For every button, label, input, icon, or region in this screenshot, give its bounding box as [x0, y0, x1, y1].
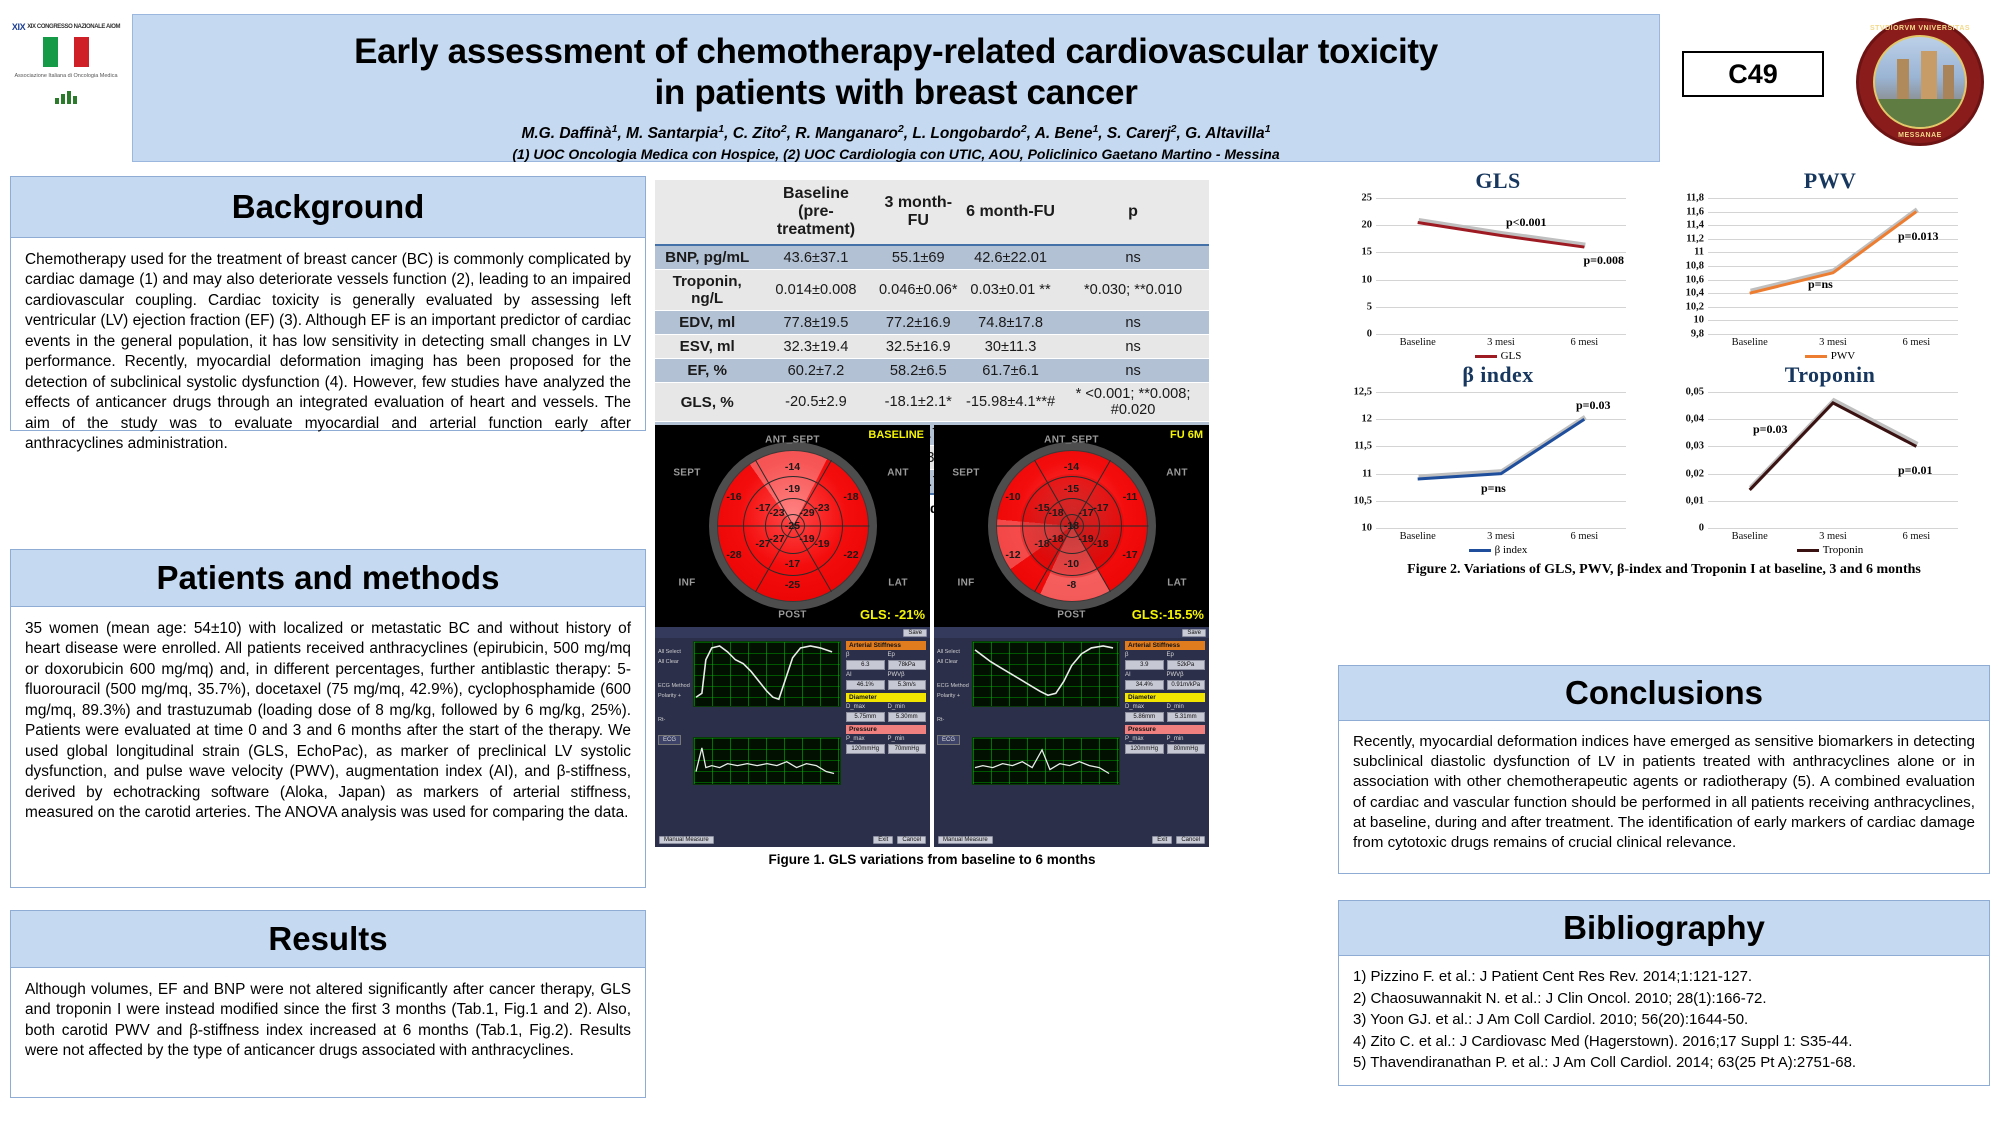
field-label: PWVβ — [888, 672, 927, 678]
table-cell-p: ns — [1057, 359, 1209, 383]
author-list: M.G. Daffinà1, M. Santarpia1, C. Zito2, … — [133, 123, 1659, 143]
section-background-body: Chemotherapy used for the treatment of b… — [10, 238, 646, 431]
segment-value: -17 — [1078, 507, 1093, 519]
field-label: AI — [1125, 672, 1164, 678]
col-baseline: Baseline (pre-treatment) — [759, 180, 872, 245]
section-bibliography-title: Bibliography — [1338, 900, 1990, 956]
wall-label-ant-sept: ANT_SEPT — [1044, 435, 1099, 446]
y-axis-tick-label: 10,4 — [1686, 288, 1708, 299]
segment-value: -19 — [785, 483, 800, 495]
series-lines — [1708, 392, 1958, 528]
segment-value: -25 — [785, 579, 800, 591]
table-row: Troponin, ng/L0.014±0.0080.046±0.06*0.03… — [655, 270, 1209, 311]
series-lines — [1708, 198, 1958, 334]
chart-title: PWV — [1664, 168, 1996, 194]
segment-value: -8 — [1067, 579, 1076, 591]
field-value: 6.3 — [846, 660, 885, 670]
y-axis-tick-label: 20 — [1362, 220, 1377, 231]
bibliography-entry: 4) Zito C. et al.: J Cardiovasc Med (Hag… — [1353, 1031, 1975, 1053]
diameter-wave-icon — [694, 642, 840, 707]
bibliography-entry: 5) Thavendiranathan P. et al.: J Am Coll… — [1353, 1052, 1975, 1074]
y-axis-tick-label: 11 — [1362, 468, 1376, 479]
x-axis-tick-label: 6 mesi — [1902, 531, 1930, 542]
field-label: P_min — [888, 736, 927, 742]
p-value-annotation: p=0.013 — [1898, 229, 1939, 244]
field-value: 5.31mm — [1167, 712, 1206, 722]
field-label: D_min — [1167, 704, 1206, 710]
segment-value: -27 — [755, 538, 770, 550]
table-cell-baseline: -20.5±2.9 — [759, 383, 872, 422]
seal-text: STVDIORVM VNIVERSITAS MESSANAE — [1859, 21, 1981, 143]
ecg-wave-icon — [973, 738, 1119, 785]
y-axis-tick-label: 0,03 — [1686, 441, 1708, 452]
select-all-button[interactable]: All Select — [658, 649, 681, 655]
x-axis-tick-label: 6 mesi — [1570, 531, 1598, 542]
segment-value: -11 — [1123, 491, 1138, 503]
table-cell-fu3: -18.1±2.1* — [873, 383, 964, 422]
stiffness-values: β Ep 3.9 52kPa AI PWVβ 34.4% 0.91m/kPa — [1125, 652, 1205, 690]
x-axis-tick-label: 6 mesi — [1570, 337, 1598, 348]
manual-measure-button[interactable]: Manual Measure — [659, 836, 714, 844]
segment-value: -27 — [769, 533, 784, 545]
y-axis-tick-label: 12,5 — [1354, 387, 1376, 398]
echotracking-topbar: Save — [655, 627, 930, 638]
table-cell-fu6: 42.6±22.01 — [964, 245, 1057, 270]
segment-value: -12 — [1005, 549, 1020, 561]
table-cell-fu6: -15.98±4.1**# — [964, 383, 1057, 422]
segment-value: -29 — [799, 507, 814, 519]
wall-label-post: POST — [1057, 610, 1085, 621]
polarity-label[interactable]: Polarity + — [937, 693, 960, 699]
segment-value-apex: -25 — [785, 520, 800, 532]
table-cell-param: GLS, % — [655, 383, 759, 422]
x-axis-tick-label: Baseline — [1400, 337, 1436, 348]
field-label: β — [846, 652, 885, 658]
segment-value-apex: -18 — [1064, 520, 1079, 532]
echotracking-panel-baseline: Save All Select All Clear ECG Method Pol… — [655, 627, 930, 847]
measurements-side-panel: Arterial Stiffness β Ep 6.3 78kPa AI PWV… — [846, 641, 926, 757]
abstract-code-badge: C49 — [1682, 51, 1824, 97]
title-line-1: Early assessment of chemotherapy-related… — [133, 31, 1659, 72]
wall-label-inf: INF — [678, 578, 695, 589]
section-conclusions: Conclusions Recently, myocardial deforma… — [1338, 665, 1990, 874]
gridline — [1376, 334, 1626, 335]
section-results-body: Although volumes, EF and BNP were not al… — [10, 968, 646, 1098]
italian-flag-icon — [43, 37, 89, 67]
segment-value: -19 — [1078, 533, 1093, 545]
y-axis-tick-label: 0 — [1699, 523, 1708, 534]
table-cell-param: Troponin, ng/L — [655, 270, 759, 311]
y-axis-tick-label: 11,2 — [1686, 233, 1708, 244]
table-cell-baseline: 77.8±19.5 — [759, 311, 872, 335]
bibliography-entry: 2) Chaosuwannakit N. et al.: J Clin Onco… — [1353, 988, 1975, 1010]
chart-legend: Troponin — [1664, 544, 1996, 556]
section-results: Results Although volumes, EF and BNP wer… — [10, 910, 646, 1098]
chart-pwv: PWV9,81010,210,410,610,81111,211,411,611… — [1664, 168, 1996, 362]
pressure-values: P_max P_min 120mmHg 70mmHg — [846, 736, 926, 754]
col-baseline-line2: (pre-treatment) — [761, 203, 870, 239]
gridline — [1708, 334, 1958, 335]
field-label: D_min — [888, 704, 927, 710]
echotracking-footer-left: Manual Measure — [938, 836, 993, 844]
ecg-wave-icon — [694, 738, 840, 785]
ecg-waveform-graph — [972, 737, 1120, 785]
col-parameter — [655, 180, 759, 245]
table-header-row: Baseline (pre-treatment) 3 month-FU 6 mo… — [655, 180, 1209, 245]
data-line-GLS — [1418, 222, 1585, 247]
bullseye-plot-fu6m: FU 6M GLS:-15.5% ANT_SEPT SEPT ANT INF L… — [934, 425, 1209, 627]
table-cell-fu3: 58.2±6.5 — [873, 359, 964, 383]
table-header: Baseline (pre-treatment) 3 month-FU 6 mo… — [655, 180, 1209, 245]
bullseye-tag-baseline: BASELINE — [868, 429, 924, 441]
p-value-annotation: p=0.008 — [1584, 253, 1625, 268]
field-value: 70mmHg — [888, 744, 927, 754]
table-row: BNP, pg/mL43.6±37.155.1±6942.6±22.01ns — [655, 245, 1209, 270]
echotracking-topbar: Save — [934, 627, 1209, 638]
plot-area: 1010,51111,51212,5Baseline3 mesi6 mesip=… — [1376, 392, 1626, 528]
table-row: GLS, %-20.5±2.9-18.1±2.1*-15.98±4.1**#* … — [655, 383, 1209, 422]
segment-value: -16 — [726, 491, 741, 503]
y-axis-tick-label: 9,8 — [1691, 329, 1708, 340]
segment-value: -17 — [785, 558, 800, 570]
wall-label-lat: LAT — [1167, 578, 1187, 589]
table-row: ESV, ml32.3±19.432.5±16.930±11.3ns — [655, 335, 1209, 359]
x-axis-tick-label: Baseline — [1732, 531, 1768, 542]
polarity-label[interactable]: Polarity + — [658, 693, 681, 699]
table-cell-fu3: 32.5±16.9 — [873, 335, 964, 359]
section-methods-body: 35 women (mean age: 54±10) with localize… — [10, 607, 646, 888]
table-cell-param: EDV, ml — [655, 311, 759, 335]
segment-value: -23 — [814, 502, 829, 514]
ecg-select[interactable]: ECG — [937, 735, 960, 745]
pressure-title: Pressure — [846, 725, 926, 734]
arterial-stiffness-title: Arterial Stiffness — [846, 641, 926, 650]
ecg-method-label: ECG Method — [658, 683, 690, 689]
p-value-annotation: p=ns — [1481, 481, 1506, 496]
segment-value: -28 — [726, 549, 741, 561]
table-cell-fu3: 77.2±16.9 — [873, 311, 964, 335]
diameter-waveform-graph — [972, 641, 1120, 707]
field-value: 3.9 — [1125, 660, 1164, 670]
bullseye-tag-fu6m: FU 6M — [1170, 429, 1203, 441]
chart-title: GLS — [1332, 168, 1664, 194]
manual-measure-button[interactable]: Manual Measure — [938, 836, 993, 844]
section-conclusions-body: Recently, myocardial deformation indices… — [1338, 721, 1990, 874]
poster-header: Early assessment of chemotherapy-related… — [132, 14, 1660, 162]
p-value-annotation: p=0.03 — [1576, 398, 1611, 413]
gls-value-fu6m: GLS:-15.5% — [1132, 607, 1204, 622]
y-axis-tick-label: 11,5 — [1354, 441, 1376, 452]
wall-label-inf: INF — [957, 578, 974, 589]
figure-1-caption: Figure 1. GLS variations from baseline t… — [655, 852, 1209, 867]
col-6month-fu: 6 month-FU — [964, 180, 1057, 245]
clear-all-button[interactable]: All Clear — [937, 659, 958, 665]
y-axis-tick-label: 10 — [1362, 523, 1377, 534]
clear-all-button[interactable]: All Clear — [658, 659, 679, 665]
p-value-annotation: p=ns — [1808, 277, 1833, 292]
chart-legend: GLS — [1332, 350, 1664, 362]
affiliations: (1) UOC Oncologia Medica con Hospice, (2… — [133, 146, 1659, 162]
data-line-PWV — [1750, 212, 1917, 294]
echo-panel-baseline: BASELINE GLS: -21% ANT_SEPT SEPT ANT INF… — [655, 425, 930, 847]
p-value-annotation: p=0.03 — [1753, 422, 1788, 437]
ecg-method-label: ECG Method — [937, 683, 969, 689]
field-value: 5.30mm — [888, 712, 927, 722]
segment-value: -15 — [1064, 483, 1079, 495]
exit-button[interactable]: Exit — [873, 836, 893, 844]
y-axis-tick-label: 0,04 — [1686, 414, 1708, 425]
echotracking-footer-left: Manual Measure — [659, 836, 714, 844]
echo-panel-fu6m: FU 6M GLS:-15.5% ANT_SEPT SEPT ANT INF L… — [934, 425, 1209, 847]
data-line-Troponin — [1750, 403, 1917, 490]
x-axis-tick-label: Baseline — [1732, 337, 1768, 348]
field-value: 46.1% — [846, 680, 885, 690]
diameter-title: Diameter — [846, 693, 926, 702]
field-value: 120mmHg — [846, 744, 885, 754]
legend-swatch-icon — [1797, 549, 1819, 552]
table-cell-param: BNP, pg/mL — [655, 245, 759, 270]
segment-value: -18 — [1093, 538, 1108, 550]
segment-value: -17 — [755, 502, 770, 514]
x-axis-tick-label: 6 mesi — [1902, 337, 1930, 348]
chart-gls: GLS0510152025Baseline3 mesi6 mesip<0.001… — [1332, 168, 1664, 362]
section-methods-title: Patients and methods — [10, 549, 646, 607]
y-axis-tick-label: 10 — [1694, 315, 1709, 326]
table-cell-p: ns — [1057, 335, 1209, 359]
y-axis-tick-label: 12 — [1362, 414, 1377, 425]
select-all-button[interactable]: All Select — [937, 649, 960, 655]
poster-canvas: XIXXIX CONGRESSO NAZIONALE AIOM Associaz… — [0, 0, 2000, 1125]
field-label: D_max — [846, 704, 885, 710]
y-axis-tick-label: 11,6 — [1686, 206, 1708, 217]
y-axis-tick-label: 10 — [1362, 274, 1377, 285]
y-axis-tick-label: 0,02 — [1686, 468, 1708, 479]
charts-grid: GLS0510152025Baseline3 mesi6 mesip<0.001… — [1332, 168, 1996, 556]
chart-title: β index — [1332, 362, 1664, 388]
cancel-button[interactable]: Cancel — [897, 836, 926, 844]
segment-value: -22 — [843, 549, 858, 561]
field-label: D_max — [1125, 704, 1164, 710]
field-label: P_max — [846, 736, 885, 742]
field-value: 34.4% — [1125, 680, 1164, 690]
segment-value: -17 — [1122, 549, 1137, 561]
cancel-button[interactable]: Cancel — [1176, 836, 1205, 844]
segment-value: -10 — [1005, 491, 1020, 503]
pressure-title: Pressure — [1125, 725, 1205, 734]
field-value: 5.3m/s — [888, 680, 927, 690]
p-value-annotation: p=0.01 — [1898, 463, 1933, 478]
table-row: EF, %60.2±7.258.2±6.561.7±6.1ns — [655, 359, 1209, 383]
wall-label-sept: SEPT — [673, 468, 700, 479]
page-title: Early assessment of chemotherapy-related… — [133, 15, 1659, 114]
legend-swatch-icon — [1805, 355, 1827, 358]
plot-area: 00,010,020,030,040,05Baseline3 mesi6 mes… — [1708, 392, 1958, 528]
section-bibliography-body: 1) Pizzino F. et al.: J Patient Cent Res… — [1338, 956, 1990, 1086]
wall-label-lat: LAT — [888, 578, 908, 589]
field-label: β — [1125, 652, 1164, 658]
wall-label-ant: ANT — [887, 468, 908, 479]
wall-label-sept: SEPT — [952, 468, 979, 479]
figure-2-container: GLS0510152025Baseline3 mesi6 mesip<0.001… — [1332, 168, 1996, 578]
seal-text-bottom: MESSANAE — [1859, 132, 1981, 139]
exit-button[interactable]: Exit — [1152, 836, 1172, 844]
rt-label: Rt- — [658, 717, 665, 723]
segment-value: -14 — [785, 461, 800, 473]
table-cell-baseline: 43.6±37.1 — [759, 245, 872, 270]
y-axis-tick-label: 11 — [1694, 247, 1708, 258]
y-axis-tick-label: 10,2 — [1686, 301, 1708, 312]
col-baseline-line1: Baseline — [761, 185, 870, 203]
diameter-values: D_max D_min 5.75mm 5.30mm — [846, 704, 926, 722]
university-seal-logo: STVDIORVM VNIVERSITAS MESSANAE — [1856, 18, 1984, 146]
diameter-wave-icon — [973, 642, 1119, 707]
congress-logo: XIXXIX CONGRESSO NAZIONALE AIOM Associaz… — [8, 18, 124, 146]
segment-value: -18 — [843, 491, 858, 503]
y-axis-tick-label: 0 — [1367, 329, 1376, 340]
chart-legend: β index — [1332, 544, 1664, 556]
chart-logo-icon — [53, 88, 79, 104]
chart-β-index: β index1010,51111,51212,5Baseline3 mesi6… — [1332, 362, 1664, 556]
section-background: Background Chemotherapy used for the tre… — [10, 176, 646, 431]
bibliography-entry: 1) Pizzino F. et al.: J Patient Cent Res… — [1353, 966, 1975, 988]
y-axis-tick-label: 0,01 — [1686, 495, 1708, 506]
wall-label-ant: ANT — [1166, 468, 1187, 479]
table-cell-baseline: 60.2±7.2 — [759, 359, 872, 383]
table-cell-baseline: 0.014±0.008 — [759, 270, 872, 311]
table-cell-p: * <0.001; **0.008; #0.020 — [1057, 383, 1209, 422]
table-cell-p: ns — [1057, 245, 1209, 270]
measurements-side-panel: Arterial Stiffness β Ep 3.9 52kPa AI PWV… — [1125, 641, 1205, 757]
save-button[interactable]: Save — [1182, 629, 1206, 637]
table-cell-baseline: 32.3±19.4 — [759, 335, 872, 359]
table-cell-fu6: 61.7±6.1 — [964, 359, 1057, 383]
sponsor-logos — [8, 88, 124, 104]
gls-value-baseline: GLS: -21% — [860, 607, 925, 622]
diameter-values: D_max D_min 5.86mm 5.31mm — [1125, 704, 1205, 722]
x-axis-tick-label: Baseline — [1400, 531, 1436, 542]
arterial-stiffness-title: Arterial Stiffness — [1125, 641, 1205, 650]
col-3month-fu: 3 month-FU — [873, 180, 964, 245]
table-cell-p: ns — [1057, 311, 1209, 335]
table-cell-fu6: 0.03±0.01 ** — [964, 270, 1057, 311]
field-value: 80mmHg — [1167, 744, 1206, 754]
x-axis-tick-label: 3 mesi — [1487, 531, 1515, 542]
field-label: P_min — [1167, 736, 1206, 742]
segment-value: -10 — [1064, 558, 1079, 570]
congress-logo-subtext: Associazione Italiana di Oncologia Medic… — [8, 73, 124, 80]
segment-value: -17 — [1093, 502, 1108, 514]
section-conclusions-title: Conclusions — [1338, 665, 1990, 721]
bullseye-plot-baseline: BASELINE GLS: -21% ANT_SEPT SEPT ANT INF… — [655, 425, 930, 627]
y-axis-tick-label: 15 — [1362, 247, 1377, 258]
y-axis-tick-label: 5 — [1367, 301, 1376, 312]
segment-value: -15 — [1034, 502, 1049, 514]
stiffness-values: β Ep 6.3 78kPa AI PWVβ 46.1% 5.3m/s — [846, 652, 926, 690]
legend-swatch-icon — [1469, 549, 1491, 552]
gridline — [1376, 528, 1626, 529]
x-axis-tick-label: 3 mesi — [1819, 531, 1847, 542]
table-cell-fu3: 55.1±69 — [873, 245, 964, 270]
ecg-select[interactable]: ECG — [658, 735, 681, 745]
chart-legend: PWV — [1664, 350, 1996, 362]
echotracking-footer-right: Exit Cancel — [873, 836, 926, 844]
section-patients-and-methods: Patients and methods 35 women (mean age:… — [10, 549, 646, 888]
figure-2-caption: Figure 2. Variations of GLS, PWV, β-inde… — [1332, 562, 1996, 578]
figure-1-container: BASELINE GLS: -21% ANT_SEPT SEPT ANT INF… — [655, 425, 1209, 867]
table-cell-param: ESV, ml — [655, 335, 759, 359]
table-cell-fu6: 30±11.3 — [964, 335, 1057, 359]
save-button[interactable]: Save — [903, 629, 927, 637]
chart-troponin: Troponin00,010,020,030,040,05Baseline3 m… — [1664, 362, 1996, 556]
bibliography-entry: 3) Yoon GJ. et al.: J Am Coll Cardiol. 2… — [1353, 1009, 1975, 1031]
gridline — [1708, 528, 1958, 529]
legend-label: Troponin — [1823, 544, 1864, 556]
x-axis-tick-label: 3 mesi — [1487, 337, 1515, 348]
segment-value: -18 — [1048, 533, 1063, 545]
legend-label: PWV — [1831, 350, 1855, 362]
field-value: 78kPa — [888, 660, 927, 670]
title-line-2: in patients with breast cancer — [133, 72, 1659, 113]
p-value-annotation: p<0.001 — [1506, 215, 1547, 230]
segment-value: -23 — [769, 507, 784, 519]
col-p-value: p — [1057, 180, 1209, 245]
legend-label: β index — [1495, 544, 1528, 556]
segment-value: -18 — [1034, 538, 1049, 550]
ecg-waveform-graph — [693, 737, 841, 785]
section-bibliography: Bibliography 1) Pizzino F. et al.: J Pat… — [1338, 900, 1990, 1086]
congress-logo-text: XIX CONGRESSO NAZIONALE AIOM — [27, 24, 120, 30]
field-label: Ep — [1167, 652, 1206, 658]
field-label: Ep — [888, 652, 927, 658]
legend-swatch-icon — [1475, 355, 1497, 358]
diameter-waveform-graph — [693, 641, 841, 707]
segment-value: -14 — [1064, 461, 1079, 473]
field-value: 5.86mm — [1125, 712, 1164, 722]
wall-label-post: POST — [778, 610, 806, 621]
bullseye-row: BASELINE GLS: -21% ANT_SEPT SEPT ANT INF… — [655, 425, 1209, 847]
y-axis-tick-label: 11,4 — [1686, 220, 1708, 231]
section-results-title: Results — [10, 910, 646, 968]
rt-label: Rt- — [937, 717, 944, 723]
y-axis-tick-label: 25 — [1362, 193, 1377, 204]
y-axis-tick-label: 10,8 — [1686, 261, 1708, 272]
field-label: P_max — [1125, 736, 1164, 742]
plot-area: 9,81010,210,410,610,81111,211,411,611,8B… — [1708, 198, 1958, 334]
plot-area: 0510152025Baseline3 mesi6 mesip<0.001p=0… — [1376, 198, 1626, 334]
segment-value: -18 — [1048, 507, 1063, 519]
field-value: 0.91m/kPa — [1167, 680, 1206, 690]
chart-title: Troponin — [1664, 362, 1996, 388]
field-label: PWVβ — [1167, 672, 1206, 678]
wall-label-ant-sept: ANT_SEPT — [765, 435, 820, 446]
y-axis-tick-label: 10,6 — [1686, 274, 1708, 285]
table-cell-param: EF, % — [655, 359, 759, 383]
field-value: 120mmHg — [1125, 744, 1164, 754]
section-background-title: Background — [10, 176, 646, 238]
echotracking-footer-right: Exit Cancel — [1152, 836, 1205, 844]
segment-value: -19 — [814, 538, 829, 550]
segment-value: -19 — [799, 533, 814, 545]
y-axis-tick-label: 10,5 — [1354, 495, 1376, 506]
table-row: EDV, ml77.8±19.577.2±16.974.8±17.8ns — [655, 311, 1209, 335]
seal-text-top: STVDIORVM VNIVERSITAS — [1859, 25, 1981, 32]
y-axis-tick-label: 11,8 — [1686, 193, 1708, 204]
echotracking-panel-fu6m: Save All Select All Clear ECG Method Pol… — [934, 627, 1209, 847]
table-cell-p: *0.030; **0.010 — [1057, 270, 1209, 311]
field-label: AI — [846, 672, 885, 678]
x-axis-tick-label: 3 mesi — [1819, 337, 1847, 348]
field-value: 5.75mm — [846, 712, 885, 722]
